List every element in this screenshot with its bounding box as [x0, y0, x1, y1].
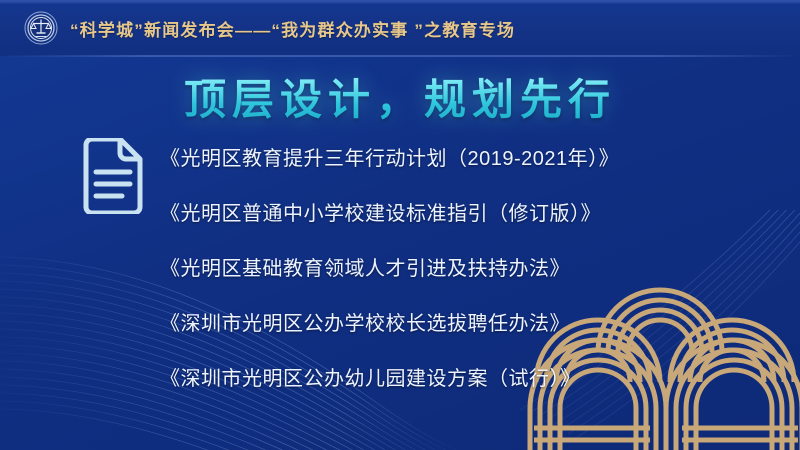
document-icon: [80, 138, 146, 214]
list-item: 《光明区基础教育领域人才引进及扶持办法》: [160, 242, 800, 297]
header-bar: “科学城”新闻发布会——“我为群众办实事 ”之教育专场: [0, 0, 800, 56]
list-item: 《光明区教育提升三年行动计划（2019-2021年）》: [160, 132, 800, 187]
list-item: 《深圳市光明区公办学校校长选拔聘任办法》: [160, 297, 800, 352]
top-edge-strip: [0, 0, 800, 4]
list-item: 《光明区普通中小学校建设标准指引（修订版）》: [160, 187, 800, 242]
content-area: 《光明区教育提升三年行动计划（2019-2021年）》 《光明区普通中小学校建设…: [0, 132, 800, 432]
header-separator: [0, 55, 800, 57]
list-item: 《深圳市光明区公办幼儿园建设方案（试行）》: [160, 352, 800, 407]
header-title: “科学城”新闻发布会——“我为群众办实事 ”之教育专场: [70, 16, 515, 41]
main-title-container: 顶层设计，规划先行: [0, 66, 800, 127]
document-list: 《光明区教育提升三年行动计划（2019-2021年）》 《光明区普通中小学校建设…: [160, 132, 800, 407]
slide-canvas: “科学城”新闻发布会——“我为群众办实事 ”之教育专场 顶层设计，规划先行 《光…: [0, 0, 800, 450]
government-seal-emblem-icon: [24, 11, 58, 45]
page-title: 顶层设计，规划先行: [184, 66, 616, 127]
